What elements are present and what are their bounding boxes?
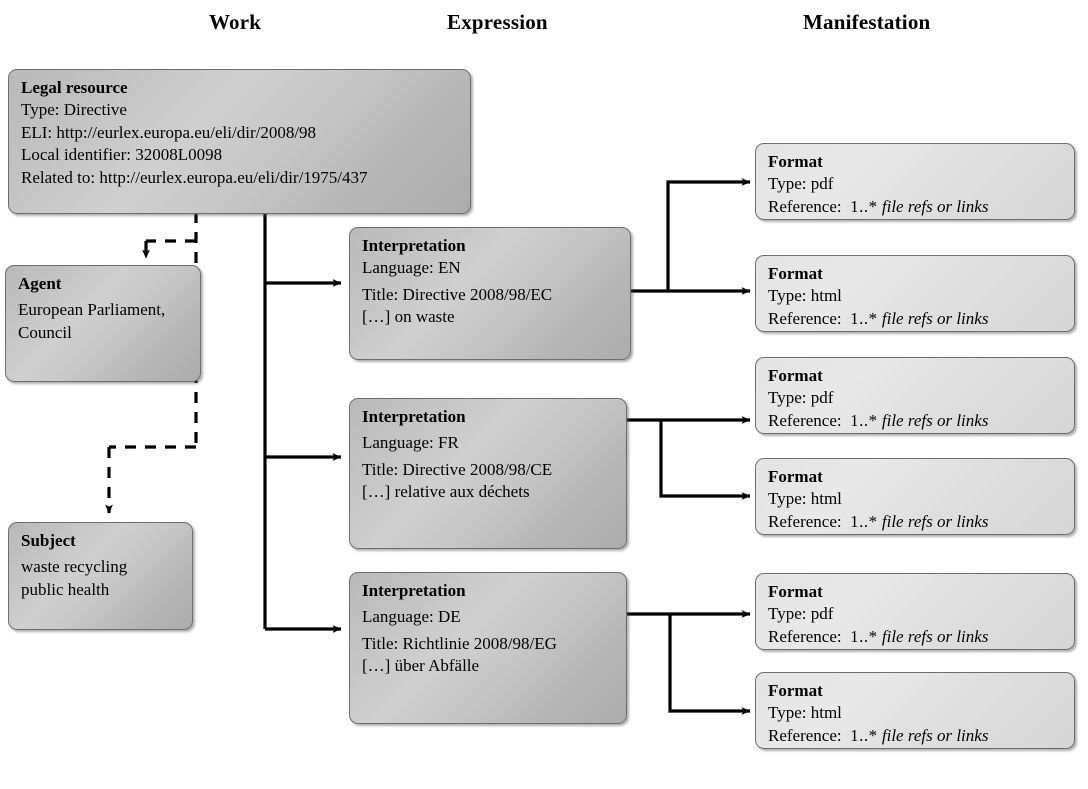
reference-label: Reference: [768,627,842,646]
reference-label: Reference: [768,512,842,531]
reference-cardinality: 1..* [850,512,878,531]
reference-cardinality: 1..* [850,309,878,328]
node-format-en-pdf[interactable]: Format Type: pdf Reference: 1..* file re… [755,143,1075,220]
format-en-html-type: Type: html [768,285,1063,307]
interpretation-de-title: Title: Richtlinie 2008/98/EG [362,633,615,655]
interpretation-en-title-cont: […] on waste [362,306,619,328]
node-format-fr-pdf[interactable]: Format Type: pdf Reference: 1..* file re… [755,357,1075,434]
node-interpretation-de[interactable]: Interpretation Language: DE Title: Richt… [349,572,627,724]
agent-value-line-2: Council [18,322,189,344]
format-fr-html-reference: Reference: 1..* file refs or links [768,511,1063,533]
node-interpretation-en[interactable]: Interpretation Language: EN Title: Direc… [349,227,631,360]
format-fr-pdf-reference: Reference: 1..* file refs or links [768,410,1063,432]
node-format-de-pdf[interactable]: Format Type: pdf Reference: 1..* file re… [755,573,1075,650]
format-de-pdf-reference: Reference: 1..* file refs or links [768,626,1063,648]
node-title: Format [768,365,1063,387]
node-format-fr-html[interactable]: Format Type: html Reference: 1..* file r… [755,458,1075,535]
eli-model-diagram: Work Expression Manifestation [0,0,1088,789]
node-format-en-html[interactable]: Format Type: html Reference: 1..* file r… [755,255,1075,332]
interpretation-en-title: Title: Directive 2008/98/EC [362,284,619,306]
reference-note: file refs or links [882,627,989,646]
node-subject[interactable]: Subject waste recycling public health [8,522,193,630]
format-de-html-reference: Reference: 1..* file refs or links [768,725,1063,747]
node-title: Format [768,581,1063,603]
agent-value-line-1: European Parliament, [18,299,189,321]
interpretation-fr-title-cont: […] relative aux déchets [362,481,615,503]
edge-interpretation-en-to-format-pdf [668,182,750,291]
node-title: Legal resource [21,77,459,99]
interpretation-fr-language: Language: FR [362,432,615,454]
reference-label: Reference: [768,726,842,745]
reference-note: file refs or links [882,197,989,216]
column-header-expression: Expression [447,10,548,35]
reference-cardinality: 1..* [850,627,878,646]
column-header-work: Work [209,10,261,35]
reference-cardinality: 1..* [850,197,878,216]
node-agent[interactable]: Agent European Parliament, Council [5,265,201,382]
node-title: Interpretation [362,406,615,428]
interpretation-de-title-cont: […] über Abfälle [362,655,615,677]
node-title: Subject [21,530,181,552]
format-de-html-type: Type: html [768,702,1063,724]
reference-note: file refs or links [882,309,989,328]
node-title: Agent [18,273,189,295]
reference-note: file refs or links [882,512,989,531]
interpretation-de-language: Language: DE [362,606,615,628]
edge-interpretation-de-to-format-html [670,614,750,711]
reference-label: Reference: [768,411,842,430]
node-title: Format [768,151,1063,173]
subject-value-line-2: public health [21,579,181,601]
reference-note: file refs or links [882,726,989,745]
legal-resource-related-to: Related to: http://eurlex.europa.eu/eli/… [21,167,459,189]
node-format-de-html[interactable]: Format Type: html Reference: 1..* file r… [755,672,1075,749]
node-interpretation-fr[interactable]: Interpretation Language: FR Title: Direc… [349,398,627,549]
node-title: Format [768,680,1063,702]
column-header-manifestation: Manifestation [803,10,930,35]
format-fr-pdf-type: Type: pdf [768,387,1063,409]
reference-label: Reference: [768,309,842,328]
format-en-pdf-reference: Reference: 1..* file refs or links [768,196,1063,218]
legal-resource-local-identifier: Local identifier: 32008L0098 [21,144,459,166]
reference-note: file refs or links [882,411,989,430]
reference-cardinality: 1..* [850,411,878,430]
edge-interpretation-fr-to-format-html [661,420,750,496]
interpretation-fr-title: Title: Directive 2008/98/CE [362,459,615,481]
legal-resource-eli: ELI: http://eurlex.europa.eu/eli/dir/200… [21,122,459,144]
node-title: Format [768,466,1063,488]
legal-resource-type: Type: Directive [21,99,459,121]
format-en-pdf-type: Type: pdf [768,173,1063,195]
node-title: Format [768,263,1063,285]
node-title: Interpretation [362,580,615,602]
reference-label: Reference: [768,197,842,216]
format-fr-html-type: Type: html [768,488,1063,510]
node-title: Interpretation [362,235,619,257]
format-en-html-reference: Reference: 1..* file refs or links [768,308,1063,330]
node-legal-resource[interactable]: Legal resource Type: Directive ELI: http… [8,69,471,214]
format-de-pdf-type: Type: pdf [768,603,1063,625]
reference-cardinality: 1..* [850,726,878,745]
subject-value-line-1: waste recycling [21,556,181,578]
interpretation-en-language: Language: EN [362,257,619,279]
